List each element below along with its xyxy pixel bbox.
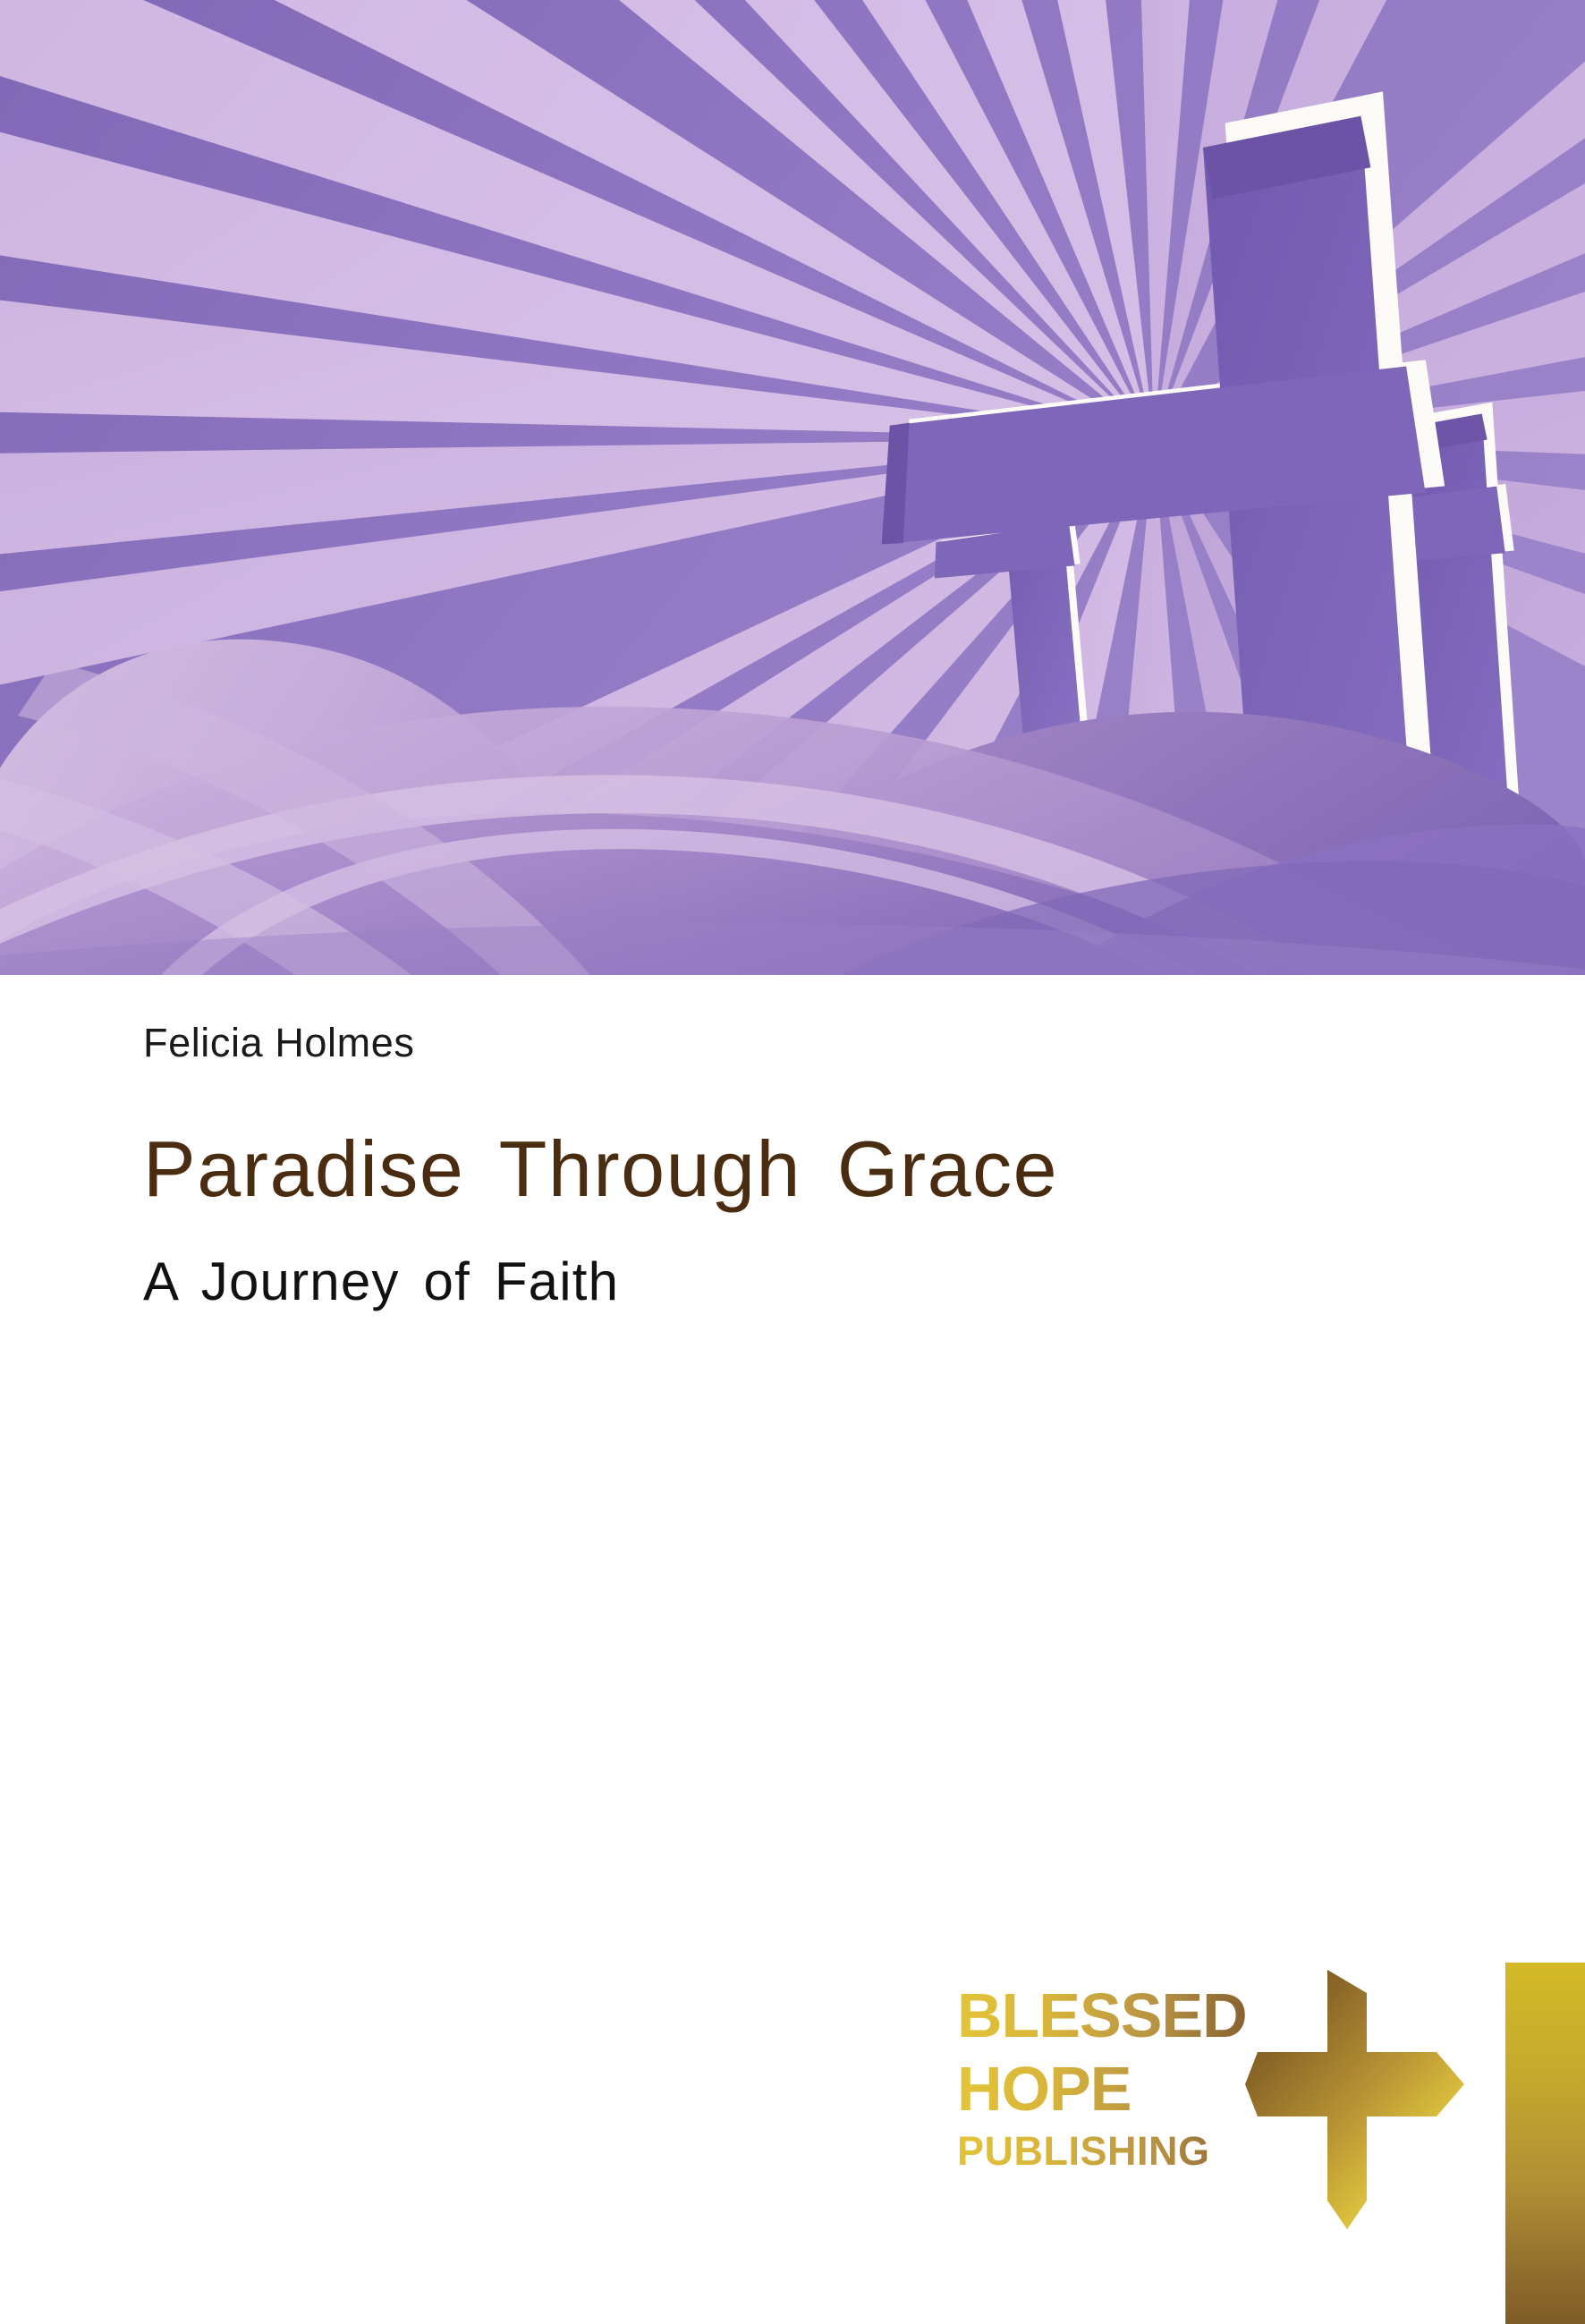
publisher-line-publishing: PUBLISHING bbox=[957, 2131, 1279, 2171]
publisher-line-blessed: BLESSED bbox=[957, 1984, 1279, 2047]
book-subtitle: A Journey of Faith bbox=[143, 1251, 1485, 1312]
author-name: Felicia Holmes bbox=[143, 1020, 1485, 1066]
cover-artwork bbox=[0, 0, 1585, 975]
gold-cross-icon bbox=[1245, 1970, 1464, 2229]
three-crosses-sunburst-illustration bbox=[0, 0, 1585, 975]
publisher-wordmark: BLESSED HOPE PUBLISHING bbox=[957, 1984, 1279, 2171]
gold-edge-bar bbox=[1505, 1963, 1585, 2324]
publisher-logo: BLESSED HOPE PUBLISHING bbox=[957, 1984, 1494, 2288]
cover-text-block: Felicia Holmes Paradise Through Grace A … bbox=[143, 1020, 1485, 1312]
book-cover: Felicia Holmes Paradise Through Grace A … bbox=[0, 0, 1585, 2324]
page-title: Paradise Through Grace bbox=[143, 1125, 1485, 1214]
publisher-line-hope: HOPE bbox=[957, 2057, 1279, 2120]
